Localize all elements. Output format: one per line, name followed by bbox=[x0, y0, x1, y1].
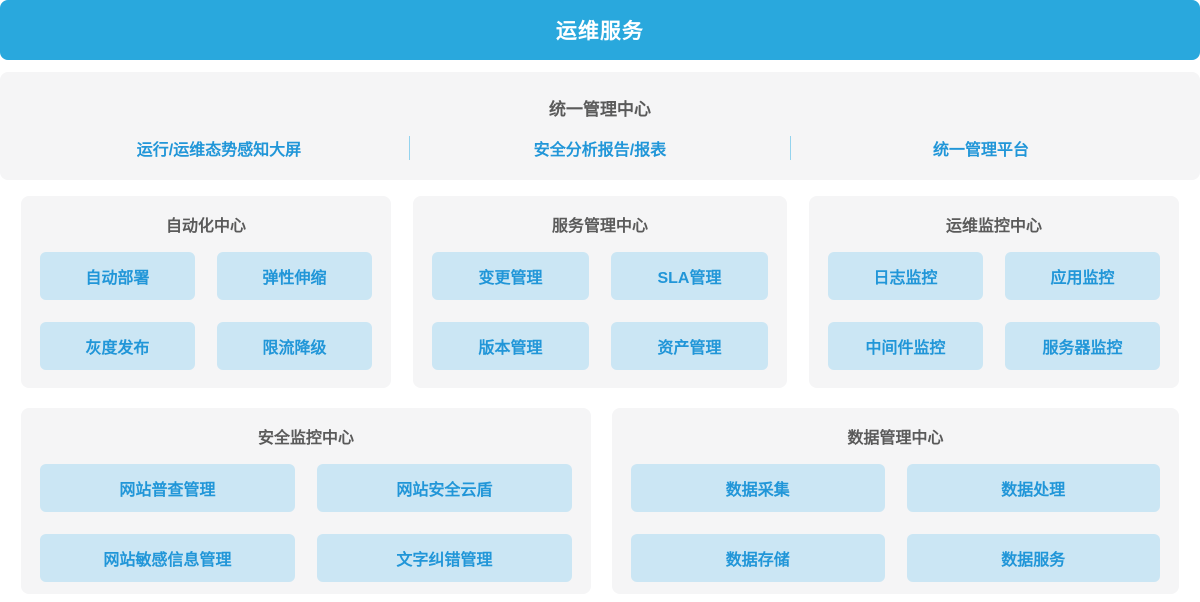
tile-grid: 变更管理 SLA管理 版本管理 资产管理 bbox=[413, 252, 787, 370]
tile-item[interactable]: 限流降级 bbox=[217, 322, 372, 370]
management-link-platform[interactable]: 统一管理平台 bbox=[861, 136, 1101, 160]
tile-grid: 自动部署 弹性伸缩 灰度发布 限流降级 bbox=[21, 252, 391, 370]
tile-item[interactable]: 日志监控 bbox=[828, 252, 983, 300]
tile-item[interactable]: 资产管理 bbox=[611, 322, 768, 370]
tile-item[interactable]: 变更管理 bbox=[432, 252, 589, 300]
panel-title: 自动化中心 bbox=[21, 212, 391, 236]
tile-item[interactable]: 灰度发布 bbox=[40, 322, 195, 370]
tile-item[interactable]: 服务器监控 bbox=[1005, 322, 1160, 370]
tile-item[interactable]: 数据采集 bbox=[631, 464, 885, 512]
banner-title: 运维服务 bbox=[556, 15, 644, 45]
tile-grid: 数据采集 数据处理 数据存储 数据服务 bbox=[612, 464, 1179, 582]
tile-item[interactable]: 网站敏感信息管理 bbox=[40, 534, 295, 582]
banner: 运维服务 bbox=[0, 0, 1200, 60]
panel-ops-monitoring-center: 运维监控中心 日志监控 应用监控 中间件监控 服务器监控 bbox=[809, 196, 1179, 388]
management-link-dashboard[interactable]: 运行/运维态势感知大屏 bbox=[99, 136, 339, 160]
tile-item[interactable]: 数据处理 bbox=[907, 464, 1161, 512]
panel-data-management-center: 数据管理中心 数据采集 数据处理 数据存储 数据服务 bbox=[612, 408, 1179, 594]
management-center-band: 统一管理中心 运行/运维态势感知大屏 安全分析报告/报表 统一管理平台 bbox=[0, 72, 1200, 180]
tile-item[interactable]: SLA管理 bbox=[611, 252, 768, 300]
panel-automation-center: 自动化中心 自动部署 弹性伸缩 灰度发布 限流降级 bbox=[21, 196, 391, 388]
panel-title: 服务管理中心 bbox=[413, 212, 787, 236]
tile-item[interactable]: 中间件监控 bbox=[828, 322, 983, 370]
management-center-links: 运行/运维态势感知大屏 安全分析报告/报表 统一管理平台 bbox=[0, 136, 1200, 160]
tile-grid: 日志监控 应用监控 中间件监控 服务器监控 bbox=[809, 252, 1179, 370]
panel-title: 安全监控中心 bbox=[21, 424, 591, 448]
management-link-security-report[interactable]: 安全分析报告/报表 bbox=[480, 136, 720, 160]
tile-item[interactable]: 数据服务 bbox=[907, 534, 1161, 582]
panel-service-management-center: 服务管理中心 变更管理 SLA管理 版本管理 资产管理 bbox=[413, 196, 787, 388]
tile-item[interactable]: 弹性伸缩 bbox=[217, 252, 372, 300]
divider-1 bbox=[409, 136, 410, 160]
tile-item[interactable]: 数据存储 bbox=[631, 534, 885, 582]
panel-title: 数据管理中心 bbox=[612, 424, 1179, 448]
divider-2 bbox=[790, 136, 791, 160]
tile-item[interactable]: 应用监控 bbox=[1005, 252, 1160, 300]
tile-item[interactable]: 文字纠错管理 bbox=[317, 534, 572, 582]
tile-item[interactable]: 网站普查管理 bbox=[40, 464, 295, 512]
panel-security-monitoring-center: 安全监控中心 网站普查管理 网站安全云盾 网站敏感信息管理 文字纠错管理 bbox=[21, 408, 591, 594]
tile-item[interactable]: 网站安全云盾 bbox=[317, 464, 572, 512]
tile-grid: 网站普查管理 网站安全云盾 网站敏感信息管理 文字纠错管理 bbox=[21, 464, 591, 582]
management-center-title: 统一管理中心 bbox=[549, 95, 651, 120]
tile-item[interactable]: 版本管理 bbox=[432, 322, 589, 370]
panel-title: 运维监控中心 bbox=[809, 212, 1179, 236]
tile-item[interactable]: 自动部署 bbox=[40, 252, 195, 300]
architecture-diagram: 运维服务 统一管理中心 运行/运维态势感知大屏 安全分析报告/报表 统一管理平台… bbox=[0, 0, 1200, 602]
